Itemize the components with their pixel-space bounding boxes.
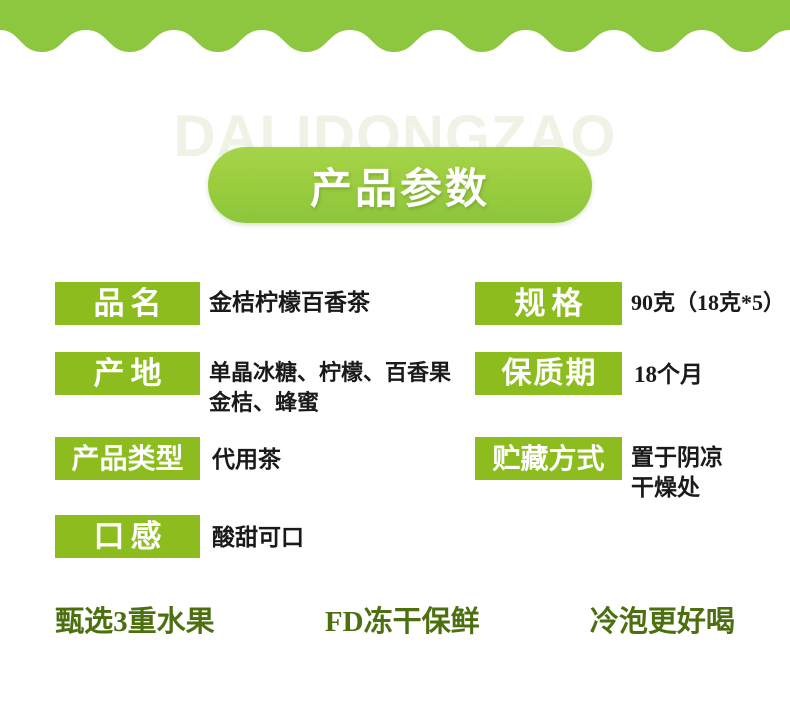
spec-value-product-type: 代用茶 (200, 437, 281, 475)
spec-value-product-name: 金桔柠檬百香茶 (200, 282, 370, 318)
spec-label-specification: 规格 (475, 282, 622, 325)
spec-value-taste: 酸甜可口 (200, 515, 304, 553)
spec-value-origin: 单晶冰糖、柠檬、百香果 金桔、蜂蜜 (200, 352, 451, 418)
spec-label-product-type: 产品类型 (55, 437, 200, 480)
spec-label-shelf-life: 保质期 (475, 352, 622, 395)
spec-value-storage: 置于阴凉 干燥处 (622, 437, 723, 503)
page-title: 产品参数 (310, 155, 490, 216)
spec-label-storage: 贮藏方式 (475, 437, 622, 480)
footer-highlights: 甄选3重水果 FD冻干保鲜 冷泡更好喝 (0, 598, 790, 640)
top-wave-band (0, 0, 790, 52)
spec-row-product-type: 产品类型 代用茶 (55, 437, 281, 480)
wave-band-shape (0, 0, 790, 52)
spec-row-taste: 口感 酸甜可口 (55, 515, 304, 558)
spec-row-specification: 规格 90克（18克*5） (475, 282, 785, 325)
page-title-pill: 产品参数 (208, 147, 592, 223)
spec-row-product-name: 品名 金桔柠檬百香茶 (55, 282, 370, 325)
spec-label-taste: 口感 (55, 515, 200, 558)
spec-row-storage: 贮藏方式 置于阴凉 干燥处 (475, 437, 723, 503)
spec-label-origin: 产地 (55, 352, 200, 395)
footer-item-freeze-dried: FD冻干保鲜 (325, 598, 480, 640)
spec-value-shelf-life: 18个月 (622, 352, 703, 390)
footer-item-fruit: 甄选3重水果 (55, 598, 215, 640)
spec-label-product-name: 品名 (55, 282, 200, 325)
spec-row-origin: 产地 单晶冰糖、柠檬、百香果 金桔、蜂蜜 (55, 352, 451, 418)
spec-row-shelf-life: 保质期 18个月 (475, 352, 703, 395)
spec-value-specification: 90克（18克*5） (622, 282, 785, 318)
footer-item-cold-brew: 冷泡更好喝 (590, 598, 735, 640)
